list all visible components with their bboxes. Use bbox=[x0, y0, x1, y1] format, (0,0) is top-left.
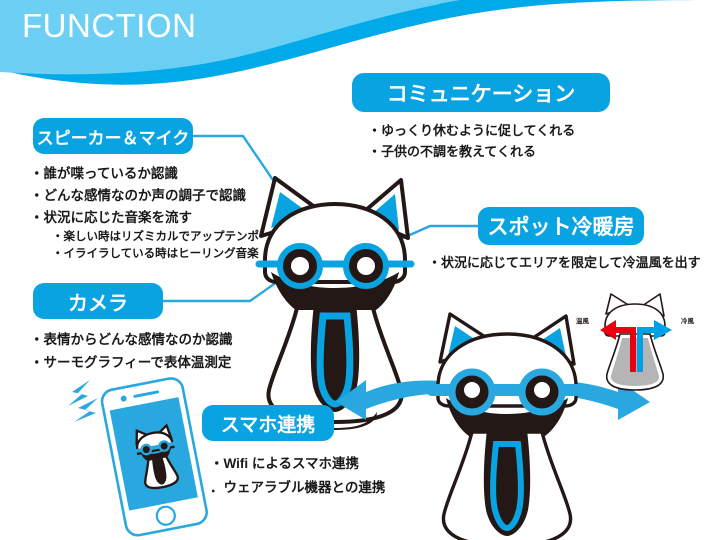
list-item: ・状況に応じた音楽を流す bbox=[30, 207, 259, 229]
list-item: ．ウェアラブル機器との連携 bbox=[210, 476, 385, 500]
bullets-communication: ・ゆっくり休むように促してくれる ・子供の不調を教えてくれる bbox=[368, 120, 575, 162]
badge-smartphone-link[interactable]: スマホ連携 bbox=[202, 405, 334, 441]
bullets-speaker: ・誰が喋っているか認識 ・どんな感情なのか声の調子で認識 ・状況に応じた音楽を流… bbox=[30, 163, 259, 263]
list-item: ・状況に応じてエリアを限定して冷温風を出す bbox=[428, 252, 701, 273]
bullets-smartphone: ・Wifi によるスマホ連携 ．ウェアラブル機器との連携 bbox=[210, 452, 385, 500]
thermal-cool-label: 冷風 bbox=[681, 315, 694, 325]
page-title: FUNCTION bbox=[22, 8, 196, 44]
bullets-camera: ・表情からどんな感情なのか認識 ・サーモグラフィーで表体温測定 bbox=[30, 328, 233, 374]
badge-spot-hvac[interactable]: スポット冷暖房 bbox=[478, 207, 644, 245]
badge-camera[interactable]: カメラ bbox=[33, 283, 163, 319]
badge-speaker-mic[interactable]: スピーカー＆マイク bbox=[33, 118, 193, 154]
list-item: ・誰が喋っているか認識 bbox=[30, 163, 259, 185]
badge-communication[interactable]: コミュニケーション bbox=[352, 73, 610, 112]
list-item: ・子供の不調を教えてくれる bbox=[368, 141, 575, 162]
list-item: ・表情からどんな感情なのか認識 bbox=[30, 328, 233, 351]
bullets-spot-hvac: ・状況に応じてエリアを限定して冷温風を出す bbox=[428, 252, 701, 273]
list-item: ・Wifi によるスマホ連携 bbox=[210, 452, 385, 476]
list-item: ・どんな感情なのか声の調子で認識 bbox=[30, 185, 259, 207]
thermal-warm-label: 温風 bbox=[576, 315, 589, 325]
signal-bolt-icon bbox=[68, 380, 98, 422]
list-item-sub: ・イライラしている時はヒーリング音楽 bbox=[52, 246, 259, 263]
infographic-canvas: FUNCTION bbox=[0, 0, 720, 540]
list-item-sub: ・楽しい時はリズミカルでアップテンポ bbox=[52, 229, 259, 246]
list-item: ・ゆっくり休むように促してくれる bbox=[368, 120, 575, 141]
list-item: ・サーモグラフィーで表体温測定 bbox=[30, 351, 233, 374]
